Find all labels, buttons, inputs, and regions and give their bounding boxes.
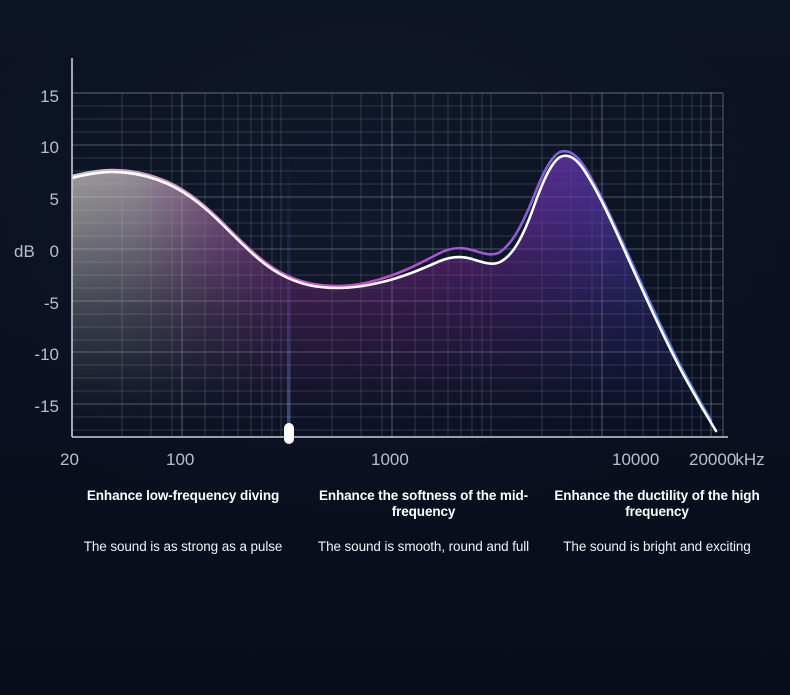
y-axis-unit-label: dB bbox=[14, 242, 35, 261]
x-axis-unit-label: kHz bbox=[735, 450, 764, 469]
y-tick-label: -15 bbox=[34, 397, 59, 416]
x-tick-label: 10000 bbox=[612, 450, 659, 469]
x-tick-label: 100 bbox=[166, 450, 194, 469]
x-axis-ticks: 20 100 1000 10000 20000 kHz bbox=[60, 450, 765, 469]
frequency-response-panel: 15 10 5 0 -5 -10 -15 dB 20 100 1000 1000… bbox=[0, 0, 790, 695]
x-tick-label: 20000 bbox=[689, 450, 736, 469]
frequency-response-chart: 15 10 5 0 -5 -10 -15 dB 20 100 1000 1000… bbox=[0, 0, 790, 488]
y-tick-label: -10 bbox=[34, 345, 59, 364]
caption-low-frequency: Enhance low-frequency diving The sound i… bbox=[60, 488, 306, 520]
caption-title: Enhance low-frequency diving bbox=[87, 488, 279, 504]
y-tick-label: 0 bbox=[50, 242, 59, 261]
x-tick-label: 20 bbox=[60, 450, 79, 469]
caption-mid-frequency: Enhance the softness of the mid-frequenc… bbox=[306, 488, 541, 520]
caption-high-frequency: Enhance the ductility of the high freque… bbox=[541, 488, 773, 520]
y-tick-label: 10 bbox=[40, 138, 59, 157]
frequency-slider-handle[interactable] bbox=[284, 423, 294, 444]
caption-subtitle: The sound is smooth, round and full bbox=[306, 539, 541, 555]
caption-title: Enhance the ductility of the high freque… bbox=[541, 488, 773, 520]
y-axis-ticks: 15 10 5 0 -5 -10 -15 dB bbox=[14, 87, 59, 416]
caption-subtitle: The sound is bright and exciting bbox=[541, 539, 773, 555]
caption-title: Enhance the softness of the mid-frequenc… bbox=[306, 488, 541, 520]
x-tick-label: 1000 bbox=[371, 450, 409, 469]
caption-subtitle: The sound is as strong as a pulse bbox=[60, 539, 306, 555]
caption-row: Enhance low-frequency diving The sound i… bbox=[0, 488, 790, 520]
y-tick-label: 15 bbox=[40, 87, 59, 106]
y-tick-label: 5 bbox=[50, 190, 59, 209]
y-tick-label: -5 bbox=[44, 294, 59, 313]
